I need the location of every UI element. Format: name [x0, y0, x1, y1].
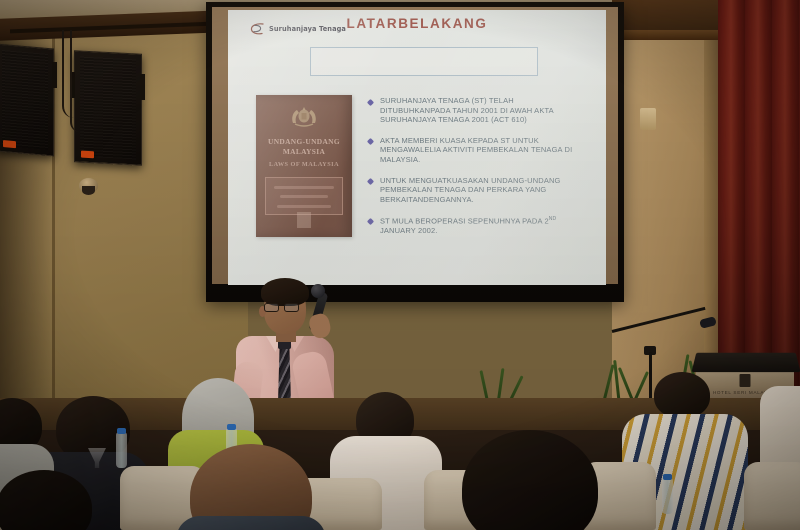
ceiling-dome-icon — [79, 178, 98, 193]
glasses-icon — [264, 303, 306, 312]
speaker-cable-2 — [70, 30, 80, 132]
speaker-grille — [2, 50, 48, 150]
list-item: ST MULA BEROPERASI SEPENUHNYA PADA 2ND J… — [368, 215, 586, 236]
bullet-diamond-icon — [367, 178, 374, 185]
wall-speaker-right — [74, 50, 142, 166]
audience-member-7-head — [654, 372, 710, 418]
bottle-cap — [663, 474, 672, 480]
soffit-lip — [612, 30, 734, 40]
bullet-text: UNTUK MENGUATKUASAKAN UNDANG-UNDANG PEMB… — [380, 176, 586, 205]
chair — [744, 462, 800, 530]
bullet-diamond-icon — [367, 138, 374, 145]
seminar-photo: Suruhanjaya Tenaga LATARBELAKANG UNDANG-… — [0, 0, 800, 530]
water-bottle — [116, 432, 127, 468]
book-subtitle: LAWS OF MALAYSIA — [256, 161, 352, 168]
list-item: AKTA MEMBERI KUASA KEPADA ST UNTUK MENGA… — [368, 136, 586, 165]
speaker-bracket-left — [52, 62, 57, 88]
audience-member-4 — [176, 516, 326, 530]
book-title-lines: UNDANG-UNDANGMALAYSIA — [256, 137, 352, 156]
malaysia-coat-of-arms-icon — [289, 106, 319, 128]
list-item: UNTUK MENGUATKUASAKAN UNDANG-UNDANG PEMB… — [368, 176, 586, 205]
slide-title: LATARBELAKANG — [228, 16, 606, 31]
slide-bullet-list: SURUHANJAYA TENAGA (ST) TELAH DITUBUHKAN… — [368, 96, 586, 247]
bullet-text: AKTA MEMBERI KUASA KEPADA ST UNTUK MENGA… — [380, 136, 586, 165]
bottle-cap — [117, 428, 126, 434]
hotel-logo-icon — [740, 374, 751, 387]
bottle-cap — [227, 424, 236, 430]
book-cover-image: UNDANG-UNDANGMALAYSIA LAWS OF MALAYSIA — [256, 95, 352, 237]
audience-member-8 — [760, 386, 800, 466]
bullet-text-superscript: ST MULA BEROPERASI SEPENUHNYA PADA 2ND J… — [380, 215, 586, 236]
podium-top-surface — [691, 353, 800, 372]
microphone-head-icon — [311, 284, 325, 298]
bullet-diamond-icon — [367, 218, 374, 225]
speaker-grille — [80, 57, 136, 160]
publisher-seal-icon — [297, 212, 311, 228]
jbl-badge-icon — [81, 151, 94, 159]
wall-plate — [640, 108, 656, 130]
book-title-frame — [265, 177, 343, 215]
slide-title-box — [310, 47, 538, 76]
jbl-badge-icon — [3, 140, 16, 148]
list-item: SURUHANJAYA TENAGA (ST) TELAH DITUBUHKAN… — [368, 96, 586, 125]
water-bottle — [662, 478, 673, 514]
projected-slide: Suruhanjaya Tenaga LATARBELAKANG UNDANG-… — [228, 10, 606, 285]
speaker-bracket-right-b — [140, 74, 145, 100]
bullet-diamond-icon — [367, 98, 374, 105]
bullet-text: SURUHANJAYA TENAGA (ST) TELAH DITUBUHKAN… — [380, 96, 586, 125]
presenter-hair — [261, 278, 309, 306]
wall-speaker-left — [0, 43, 54, 156]
